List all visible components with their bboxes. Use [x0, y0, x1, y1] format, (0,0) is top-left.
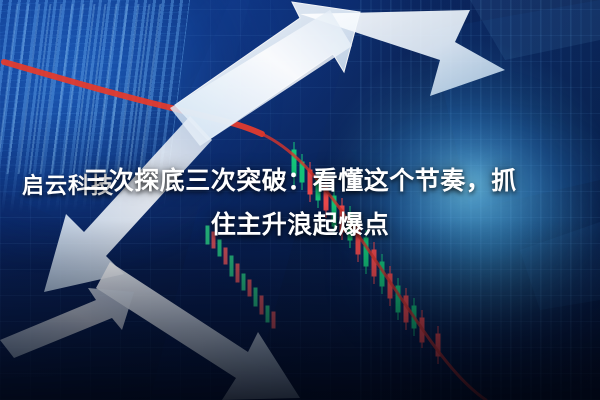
headline-line-1: 三次探底三次突破：看懂这个节奏，抓: [0, 160, 600, 202]
bottom-vignette: [0, 220, 600, 400]
headline-line-2: 住主升浪起爆点: [0, 205, 600, 241]
promo-banner: 启云科技 三次探底三次突破：看懂这个节奏，抓 住主升浪起爆点: [0, 0, 600, 400]
